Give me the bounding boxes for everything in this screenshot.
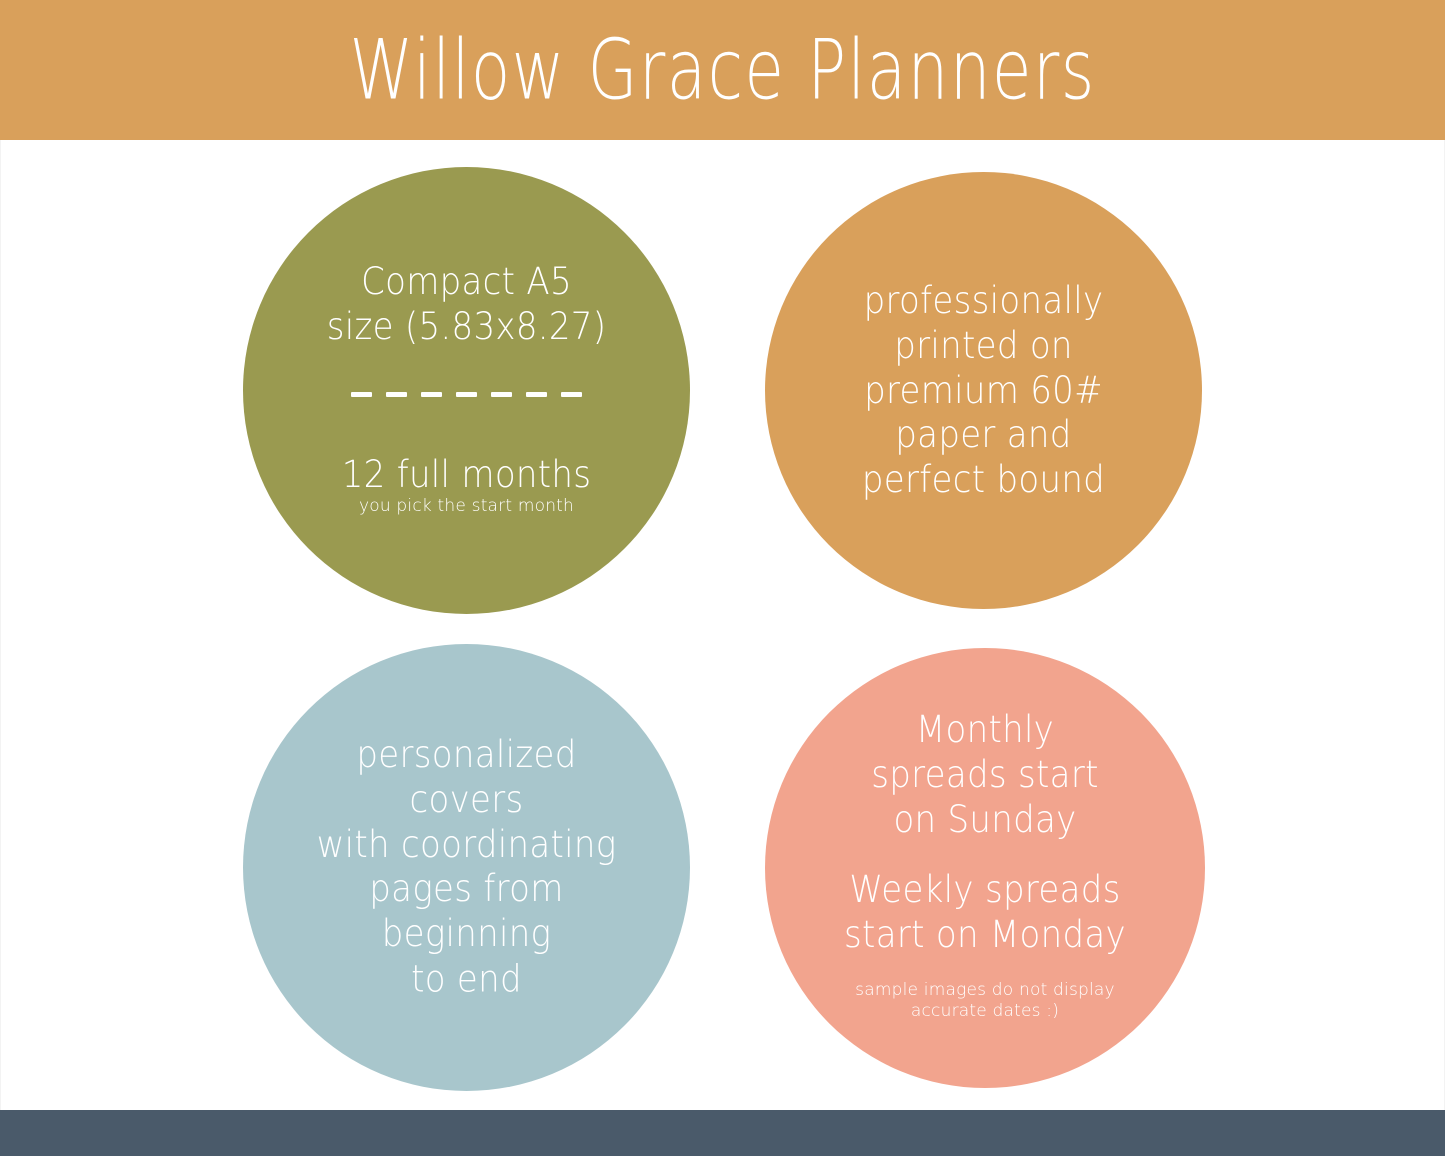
printing-circle-text: professionally printed on premium 60# pa…: [862, 278, 1105, 502]
covers-circle-line1: personalized: [317, 733, 617, 778]
divider-dash: [421, 392, 442, 397]
divider-dash: [491, 392, 512, 397]
divider-dash: [456, 392, 477, 397]
infographic-page: Willow Grace Planners Compact A5 size (5…: [0, 0, 1445, 1156]
printing-circle-line4: paper and: [862, 413, 1105, 458]
spreads-circle-line5: start on Monday: [844, 913, 1126, 958]
divider-dash: [386, 392, 407, 397]
covers-circle-text: personalized covers with coordinating pa…: [317, 733, 617, 1002]
spreads-circle-note-line1: sample images do not display: [855, 980, 1115, 1001]
spreads-circle-weekly-block: Weekly spreads start on Monday: [844, 868, 1126, 958]
covers-circle: personalized covers with coordinating pa…: [243, 644, 690, 1091]
size-circle-line3: 12 full months: [342, 453, 592, 498]
spreads-circle-line3: on Sunday: [871, 797, 1098, 842]
page-title: Willow Grace Planners: [349, 29, 1095, 112]
size-circle-heading: Compact A5 size (5.83x8.27): [327, 260, 607, 350]
spreads-circle-note-line2: accurate dates :): [855, 1001, 1115, 1022]
printing-circle-line3: premium 60#: [862, 368, 1105, 413]
divider-dash: [526, 392, 547, 397]
spreads-circle: Monthly spreads start on Sunday Weekly s…: [765, 648, 1205, 1088]
printing-circle: professionally printed on premium 60# pa…: [765, 172, 1202, 609]
size-circle-line1: Compact A5: [327, 260, 607, 305]
covers-circle-line2: covers: [317, 778, 617, 823]
printing-circle-line2: printed on: [862, 323, 1105, 368]
covers-circle-line3: with coordinating: [317, 823, 617, 868]
spreads-circle-note: sample images do not display accurate da…: [855, 980, 1115, 1023]
size-circle: Compact A5 size (5.83x8.27) 12 full mont…: [243, 167, 690, 614]
divider-dash: [351, 392, 372, 397]
spreads-circle-line4: Weekly spreads: [844, 868, 1126, 913]
size-circle-line4: you pick the start month: [342, 496, 592, 517]
footer-bar: [0, 1110, 1445, 1156]
printing-circle-line1: professionally: [862, 278, 1105, 323]
spreads-circle-monthly-block: Monthly spreads start on Sunday: [871, 708, 1098, 843]
covers-circle-line4: pages from: [317, 868, 617, 913]
size-circle-line2: size (5.83x8.27): [327, 305, 607, 350]
dashed-divider: [351, 392, 582, 397]
divider-dash: [561, 392, 582, 397]
feature-circles: Compact A5 size (5.83x8.27) 12 full mont…: [0, 140, 1445, 1110]
covers-circle-line6: to end: [317, 957, 617, 1002]
printing-circle-line5: perfect bound: [862, 458, 1105, 503]
spreads-circle-line2: spreads start: [871, 753, 1098, 798]
covers-circle-line5: beginning: [317, 912, 617, 957]
size-circle-subblock: 12 full months you pick the start month: [342, 455, 592, 517]
header-bar: Willow Grace Planners: [0, 0, 1445, 140]
spreads-circle-line1: Monthly: [871, 708, 1098, 753]
